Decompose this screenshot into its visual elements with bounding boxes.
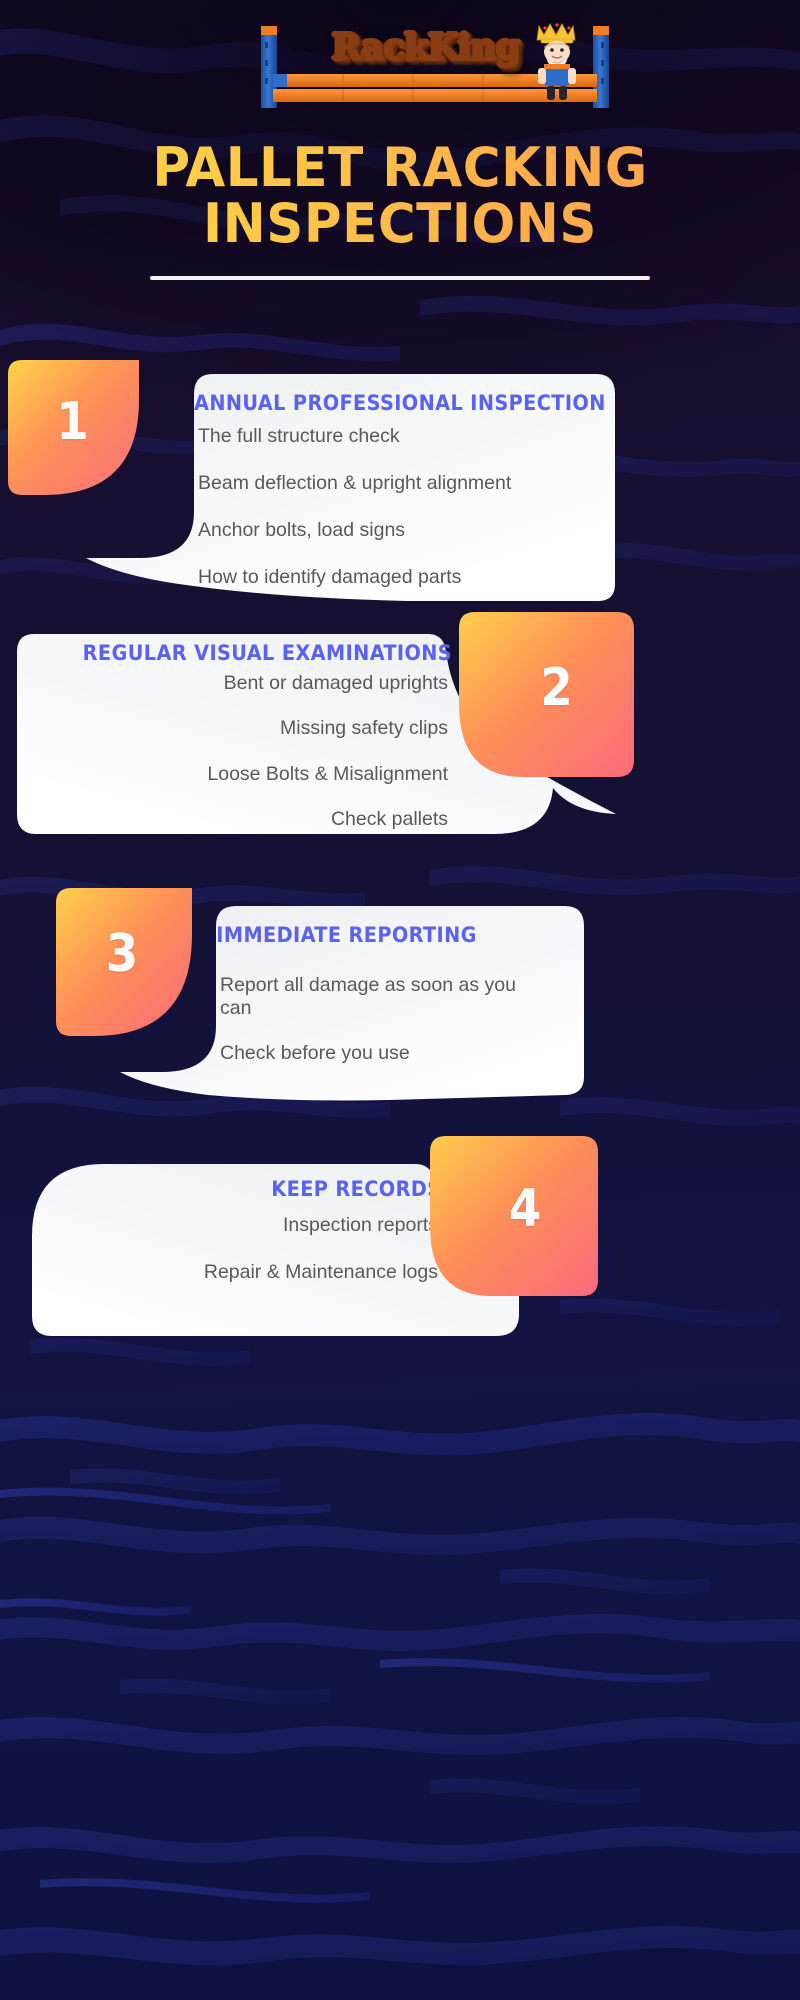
section-2-number-badge: 2 (459, 612, 604, 747)
card-1-heading: Annual Professional Inspection (194, 390, 602, 416)
page-title: Pallet Racking Inspections (0, 140, 800, 280)
section-4-number-badge: 4 (430, 1136, 575, 1271)
section-2-number: 2 (459, 612, 634, 777)
card-1-line-1: The full structure check (198, 425, 598, 448)
card-2-line-3: Loose Bolts & Misalignment (38, 763, 448, 786)
section-card-4: Keep Records Inspection reports Repair &… (26, 1140, 626, 1355)
card-1-line-4: How to identify damaged parts (198, 566, 598, 589)
card-2-line-2: Missing safety clips (38, 717, 448, 740)
card-1-line-3: Anchor bolts, load signs (198, 519, 598, 542)
card-2-heading: Regular Visual Examinations (34, 640, 452, 666)
section-card-3: Immediate Reporting Report all damage as… (58, 890, 628, 1110)
card-2-content: Regular Visual Examinations Bent or dama… (38, 640, 448, 831)
card-2-line-4: Check pallets (38, 808, 448, 831)
card-1-line-2: Beam deflection & upright alignment (198, 472, 598, 495)
section-card-2: Regular Visual Examinations Bent or dama… (16, 612, 628, 847)
section-3-number-badge: 3 (56, 888, 201, 1023)
card-3-heading: Immediate Reporting (216, 922, 593, 948)
card-4-heading: Keep Records (82, 1176, 441, 1202)
card-4-content: Keep Records Inspection reports Repair &… (86, 1176, 438, 1284)
title-divider (150, 276, 650, 280)
section-card-1: Annual Professional Inspection The full … (78, 360, 623, 605)
card-4-line-1: Inspection reports (86, 1214, 438, 1237)
section-4-number: 4 (430, 1136, 598, 1296)
page-title-line-2: Inspections (0, 196, 800, 252)
section-1-number-badge: 1 (8, 360, 153, 495)
card-3-content: Immediate Reporting Report all damage as… (220, 922, 590, 1065)
logo-wordmark: RackKing (311, 26, 541, 70)
section-3-number: 3 (56, 888, 206, 1036)
card-3-line-2: Check before you use (220, 1042, 590, 1065)
king-mascot-icon (537, 23, 576, 100)
rackking-logo[interactable]: RackKing (255, 12, 615, 108)
card-2-line-1: Bent or damaged uprights (38, 672, 448, 695)
page-title-line-1: Pallet Racking (0, 140, 800, 196)
card-1-content: Annual Professional Inspection The full … (198, 390, 598, 589)
card-4-line-2: Repair & Maintenance logs (46, 1261, 438, 1284)
section-1-number: 1 (8, 360, 153, 495)
card-3-line-1: Report all damage as soon as you can (220, 974, 520, 1020)
